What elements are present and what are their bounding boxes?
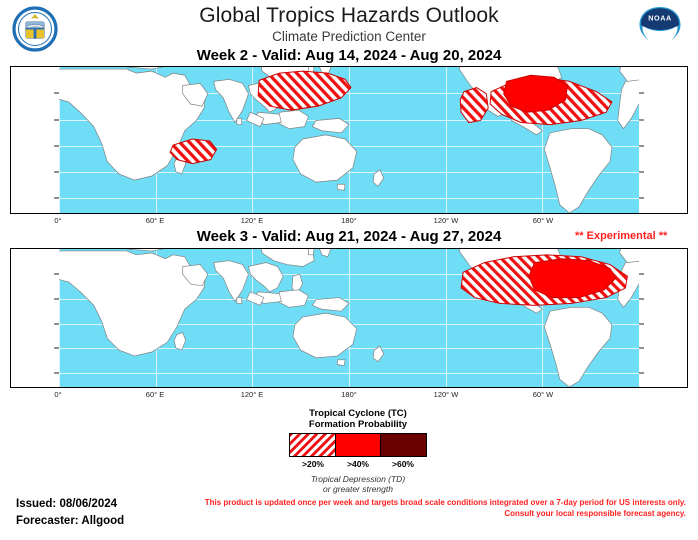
outlook-page: Global Tropics Hazards Outlook Climate P…	[0, 0, 698, 540]
tick-right-15s	[639, 172, 644, 173]
week2-map-area	[59, 67, 639, 213]
tick-right-15s	[639, 348, 644, 349]
legend-color-bar	[289, 433, 427, 457]
issued-date: Issued: 08/06/2024	[16, 498, 117, 510]
hazard-east-pacific-20	[460, 88, 488, 123]
legend-note-line1: Tropical Depression (TD)	[268, 474, 448, 484]
week3-map-panel: 30° N 15° N 0° 15° S 30° S 30° N 15° N 0…	[10, 248, 688, 388]
week2-right-axis	[639, 67, 687, 213]
hazard-south-indian-20	[170, 139, 216, 164]
week3-lon-labels: 0° 60° E 120° E 180° 120° W 60° W	[10, 390, 688, 404]
lon-label-60e: 60° E	[146, 216, 164, 225]
week2-map-panel: 30° N 15° N 0° 15° S 30° S 30° N 15° N 0…	[10, 66, 688, 214]
week2-left-axis	[11, 67, 59, 213]
tick-right-15n	[639, 119, 644, 120]
forecaster-name: Forecaster: Allgood	[16, 515, 124, 527]
legend-swatch-40	[336, 434, 382, 456]
lon-label-180: 180°	[341, 390, 357, 399]
disclaimer-line1: This product is updated once per week an…	[205, 498, 686, 507]
week3-left-axis	[11, 249, 59, 387]
tick-right-30s	[639, 198, 644, 199]
tick-30n	[54, 273, 59, 274]
page-title: Global Tropics Hazards Outlook	[149, 4, 549, 28]
tick-30s	[54, 198, 59, 199]
lon-label-120w: 120° W	[434, 216, 459, 225]
lon-label-120e: 120° E	[241, 390, 264, 399]
tick-15s	[54, 172, 59, 173]
lon-label-120w: 120° W	[434, 390, 459, 399]
tick-right-0	[639, 323, 644, 324]
legend-note-line2: or greater strength	[268, 484, 448, 494]
lon-label-180: 180°	[341, 216, 357, 225]
tick-30s	[54, 373, 59, 374]
legend-tick-40: >40%	[347, 459, 369, 469]
week2-title: Week 2 - Valid: Aug 14, 2024 - Aug 20, 2…	[119, 47, 579, 64]
lon-label-120e: 120° E	[241, 216, 264, 225]
hazard-west-pacific-20	[258, 71, 351, 110]
experimental-label: ** Experimental **	[575, 230, 667, 242]
week3-right-axis	[639, 249, 687, 387]
legend-title-line1: Tropical Cyclone (TC)	[268, 408, 448, 419]
tick-0	[54, 323, 59, 324]
noaa-logo-icon: NOAA	[636, 5, 684, 53]
week3-hazard-overlay	[59, 249, 639, 387]
tick-right-30n	[639, 273, 644, 274]
lon-label-60w: 60° W	[533, 216, 554, 225]
disclaimer-line2: Consult your local responsible forecast …	[504, 509, 686, 518]
week2-hazard-overlay	[59, 67, 639, 213]
lon-label-0: 0°	[54, 390, 61, 399]
lon-label-60e: 60° E	[146, 390, 164, 399]
legend-tick-20: >20%	[302, 459, 324, 469]
tick-30n	[54, 93, 59, 94]
lon-label-60w: 60° W	[533, 390, 554, 399]
legend-tick-labels: >20% >40% >60%	[289, 459, 427, 471]
lon-label-0: 0°	[54, 216, 61, 225]
legend-tick-60: >60%	[392, 459, 414, 469]
legend: Tropical Cyclone (TC) Formation Probabil…	[268, 408, 448, 494]
header: Global Tropics Hazards Outlook Climate P…	[0, 0, 698, 62]
tick-15n	[54, 298, 59, 299]
legend-title-line2: Formation Probability	[268, 419, 448, 430]
tick-0	[54, 145, 59, 146]
week3-title: Week 3 - Valid: Aug 21, 2024 - Aug 27, 2…	[119, 228, 579, 245]
page-subtitle: Climate Prediction Center	[149, 29, 549, 44]
tick-right-0	[639, 145, 644, 146]
tick-right-15n	[639, 298, 644, 299]
tick-15s	[54, 348, 59, 349]
legend-swatch-60	[381, 434, 426, 456]
tick-15n	[54, 119, 59, 120]
week3-map-area	[59, 249, 639, 387]
noaa-wordmark: NOAA	[648, 14, 672, 23]
tick-right-30n	[639, 93, 644, 94]
legend-swatch-20	[290, 434, 336, 456]
department-of-commerce-seal-icon	[12, 6, 58, 52]
tick-right-30s	[639, 373, 644, 374]
disclaimer: This product is updated once per week an…	[198, 498, 686, 519]
